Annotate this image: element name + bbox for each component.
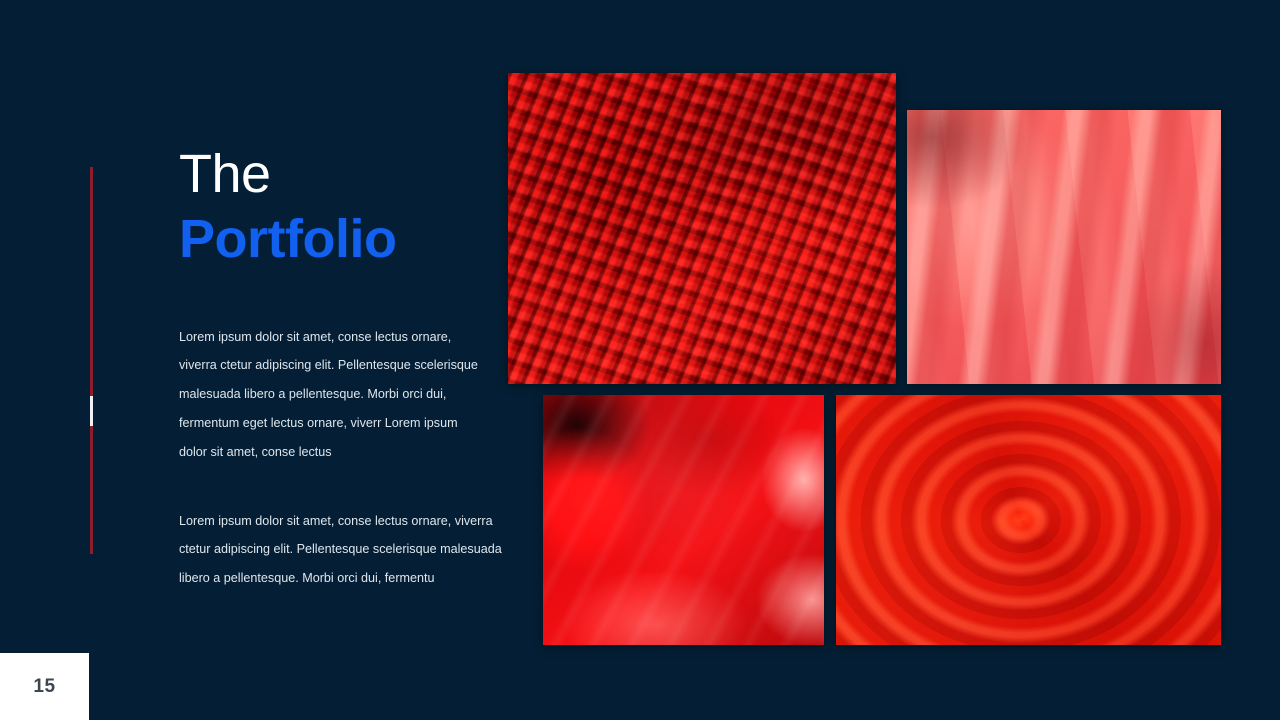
gallery-photo-red-abstract-glass	[543, 395, 824, 645]
page-title: The Portfolio	[179, 142, 519, 272]
page-title-line-2: Portfolio	[179, 206, 519, 272]
body-paragraph-2: Lorem ipsum dolor sit amet, conse lectus…	[179, 507, 514, 593]
slide-canvas: The Portfolio Lorem ipsum dolor sit amet…	[0, 0, 1280, 720]
gallery-photo-red-knit-fabric	[508, 73, 896, 384]
body-paragraph-1: Lorem ipsum dolor sit amet, conse lectus…	[179, 323, 489, 467]
gallery-photo-coral-silk-drape-image	[907, 110, 1221, 384]
gallery-photo-red-abstract-glass-image	[543, 395, 824, 645]
gallery-photo-coral-silk-drape	[907, 110, 1221, 384]
gallery-photo-red-rose-spiral-image	[836, 395, 1221, 645]
page-title-line-1: The	[179, 142, 519, 206]
accent-rule-marker	[90, 396, 93, 426]
page-number-value: 15	[33, 676, 55, 698]
accent-rule	[90, 167, 93, 554]
page-number-chip: 15	[0, 653, 89, 720]
gallery-photo-red-knit-fabric-image	[508, 73, 896, 384]
gallery-photo-red-rose-spiral	[836, 395, 1221, 645]
